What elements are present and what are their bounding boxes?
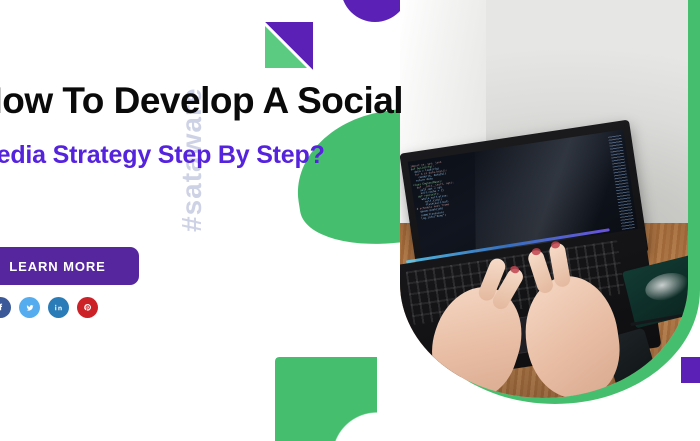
page-subtitle: Media Strategy Step By Step? — [0, 141, 446, 170]
hero-photo: import os, sys, json def build(cfg): dat… — [392, 0, 700, 441]
diagonal-square-logo-icon — [265, 22, 313, 70]
linkedin-icon[interactable] — [48, 297, 69, 318]
page-title: How To Develop A Social — [0, 81, 446, 121]
photo-frame: import os, sys, json def build(cfg): dat… — [400, 0, 688, 398]
purple-rectangle-decoration — [681, 357, 700, 383]
green-arc-decoration — [275, 357, 377, 441]
learn-more-button[interactable]: LEARN MORE — [0, 247, 139, 285]
social-links — [0, 297, 98, 318]
promo-banner: import os, sys, json def build(cfg): dat… — [0, 0, 700, 441]
pinterest-icon[interactable] — [77, 297, 98, 318]
facebook-icon[interactable] — [0, 297, 11, 318]
sataware-watermark: #sataware — [176, 32, 208, 232]
twitter-icon[interactable] — [19, 297, 40, 318]
